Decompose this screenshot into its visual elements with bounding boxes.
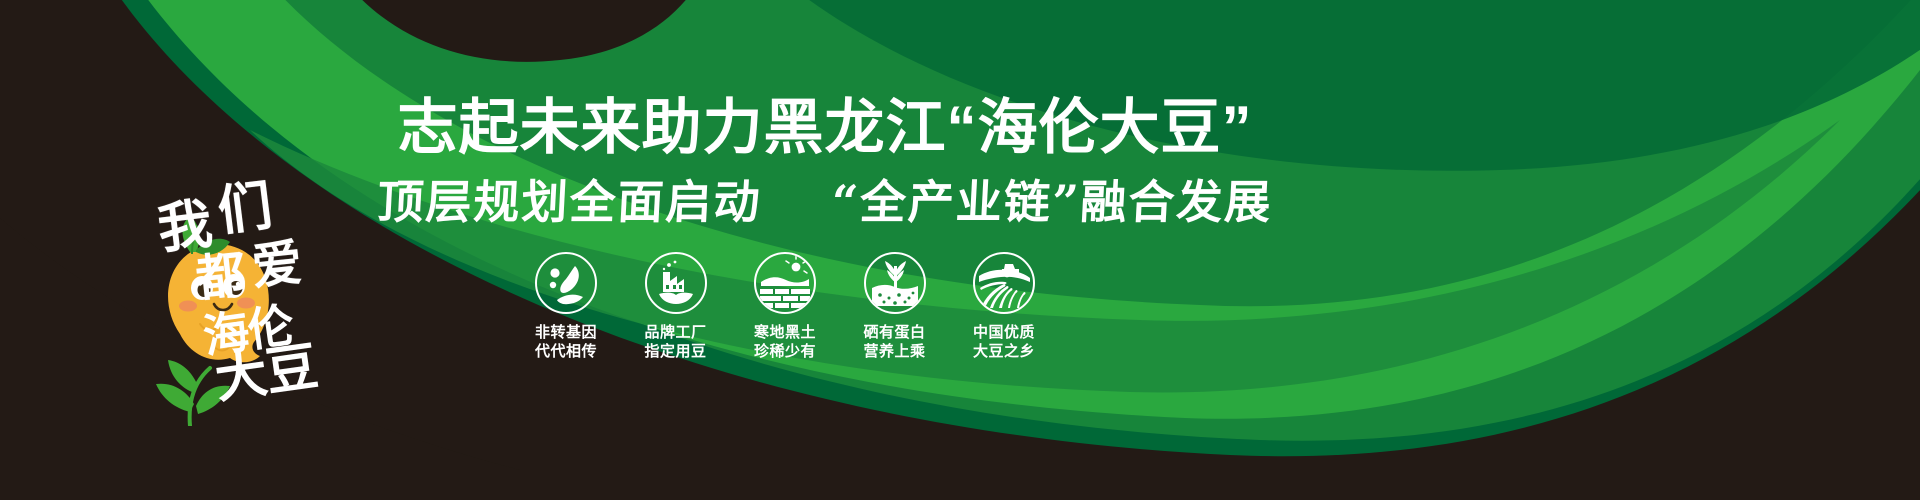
factory-lotus-icon [647, 254, 705, 312]
feature-badge-quality-homeland[interactable] [973, 252, 1035, 314]
headline-subtitle-right: “全产业链”融合发展 [830, 175, 1274, 229]
feature-caption-line2: 指定用豆 [644, 342, 706, 361]
feature-caption-line2: 代代相传 [535, 342, 597, 361]
promotional-banner: 我 们 都 爱 海伦 大豆 志起未来助力黑龙江“海伦大豆” 顶层规划全面启动 “… [0, 0, 1920, 500]
headline-subtitle-left: 顶层规划全面启动 [376, 175, 763, 229]
feature-item-black-soil[interactable]: 寒地黑土 珍稀少有 [739, 252, 831, 361]
feature-caption-line1: 非转基因 [535, 323, 597, 341]
feature-strip: 非转基因 代代相传 品牌工厂 指定用豆 [520, 252, 1050, 361]
logo-char-wo: 我 [155, 197, 213, 257]
farmland-tractor-icon [975, 254, 1033, 312]
headline-subtitle: 顶层规划全面启动 “全产业链”融合发展 [354, 177, 1297, 228]
feature-caption-line2: 珍稀少有 [754, 342, 816, 361]
feature-item-non-gmo[interactable]: 非转基因 代代相传 [520, 252, 612, 361]
selenium-soil-sprout-icon [866, 254, 924, 312]
feature-caption-line2: 大豆之乡 [973, 342, 1035, 361]
feature-caption-non-gmo: 非转基因 代代相传 [535, 323, 597, 361]
feature-caption-line1: 品牌工厂 [644, 323, 706, 341]
headline-main: 志起未来助力黑龙江“海伦大豆” [355, 96, 1295, 159]
logo-char-dou: 都 [194, 250, 247, 305]
sprout-pod-icon [537, 254, 595, 312]
leaf-top-notch [330, 0, 710, 62]
logo-char-ai: 爱 [250, 238, 303, 293]
feature-caption-line1: 硒有蛋白 [863, 323, 925, 341]
feature-item-quality-homeland[interactable]: 中国优质 大豆之乡 [958, 252, 1050, 361]
helen-soybean-logo[interactable]: 我 们 都 爱 海伦 大豆 [118, 176, 378, 426]
mascot-cheek-left [179, 301, 197, 312]
feature-caption-line1: 寒地黑土 [754, 323, 816, 341]
feature-badge-brand-factory[interactable] [645, 252, 707, 314]
feature-caption-black-soil: 寒地黑土 珍稀少有 [754, 323, 816, 361]
logo-char-men: 们 [215, 179, 273, 239]
feature-caption-line2: 营养上乘 [863, 342, 925, 361]
feature-item-selenium-protein[interactable]: 硒有蛋白 营养上乘 [849, 252, 941, 361]
feature-badge-black-soil[interactable] [754, 252, 816, 314]
feature-caption-line1: 中国优质 [973, 323, 1035, 341]
feature-caption-selenium-protein: 硒有蛋白 营养上乘 [863, 323, 925, 361]
headline-block: 志起未来助力黑龙江“海伦大豆” 顶层规划全面启动 “全产业链”融合发展 [355, 96, 1295, 228]
feature-caption-quality-homeland: 中国优质 大豆之乡 [973, 323, 1035, 361]
feature-item-brand-factory[interactable]: 品牌工厂 指定用豆 [630, 252, 722, 361]
feature-badge-selenium-protein[interactable] [864, 252, 926, 314]
feature-caption-brand-factory: 品牌工厂 指定用豆 [644, 323, 706, 361]
feature-badge-non-gmo[interactable] [535, 252, 597, 314]
black-soil-field-icon [756, 254, 814, 312]
